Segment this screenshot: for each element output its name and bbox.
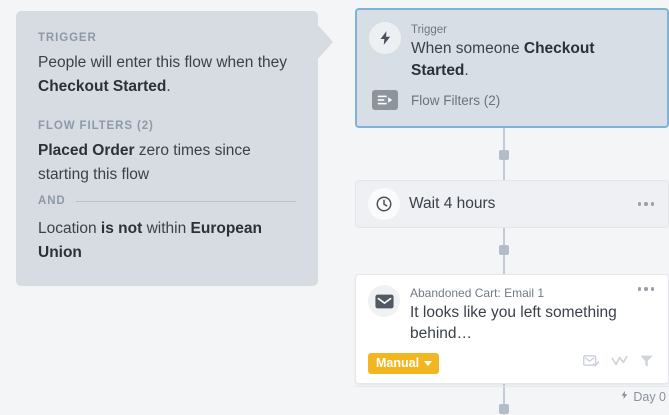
clock-icon <box>368 188 400 220</box>
flow-filters-label: Flow Filters (2) <box>411 93 500 108</box>
connector-node-1 <box>499 150 509 160</box>
manual-status-badge[interactable]: Manual <box>368 353 439 375</box>
tooltip-filter-2-bold-1: is not <box>101 220 142 237</box>
trigger-card-kicker: Trigger <box>411 23 653 37</box>
email-card-subject: It looks like you left something behind… <box>410 302 636 345</box>
lightning-bolt-icon <box>369 22 401 54</box>
tooltip-filter-2-middle: within <box>142 220 190 237</box>
tooltip-trigger-text-bold: Checkout Started <box>38 78 166 95</box>
envelope-check-icon[interactable] <box>583 354 600 373</box>
tooltip-filters-label: FLOW FILTERS (2) <box>38 120 296 132</box>
tooltip-and-label: AND <box>38 195 66 207</box>
trigger-card-title-suffix: . <box>464 62 468 79</box>
email-action-icons <box>583 354 656 373</box>
wait-card-title: Wait 4 hours <box>409 195 636 213</box>
day-marker-label: Day 0 <box>633 390 666 404</box>
trigger-card-text: Trigger When someone Checkout Started. <box>411 22 653 81</box>
tooltip-trigger-text-suffix: . <box>166 78 170 95</box>
tooltip-filter-2-prefix: Location <box>38 220 101 237</box>
trigger-card-title: When someone Checkout Started. <box>411 38 653 81</box>
tooltip-pointer-arrow <box>317 24 333 60</box>
flow-filters-row[interactable]: Flow Filters (2) <box>369 90 653 110</box>
email-card-text: Abandoned Cart: Email 1 It looks like yo… <box>410 285 636 345</box>
connector-node-2 <box>499 245 509 255</box>
lightning-bolt-icon <box>620 389 629 404</box>
kebab-menu-icon[interactable] <box>636 283 657 295</box>
tooltip-trigger-text: People will enter this flow when they Ch… <box>38 51 296 98</box>
kebab-menu-icon[interactable] <box>636 198 657 210</box>
tooltip-trigger-label: TRIGGER <box>38 32 296 44</box>
envelope-icon <box>368 285 400 317</box>
day-marker: Day 0 <box>620 389 666 404</box>
email-card-kicker: Abandoned Cart: Email 1 <box>410 286 636 301</box>
trigger-card-title-prefix: When someone <box>411 40 524 57</box>
flow-filters-icon <box>372 90 398 110</box>
tooltip-filter-1: Placed Order zero times since starting t… <box>38 139 296 186</box>
filter-funnel-icon[interactable] <box>639 354 654 373</box>
tooltip-trigger-text-prefix: People will enter this flow when they <box>38 54 287 71</box>
email-card[interactable]: Abandoned Cart: Email 1 It looks like yo… <box>355 274 669 384</box>
tooltip-filter-1-bold: Placed Order <box>38 142 135 159</box>
wait-card[interactable]: Wait 4 hours <box>355 180 669 228</box>
trigger-card[interactable]: Trigger When someone Checkout Started. F… <box>355 8 669 128</box>
flow-trigger-tooltip: TRIGGER People will enter this flow when… <box>16 11 318 286</box>
tooltip-spacer <box>38 98 296 120</box>
manual-badge-label: Manual <box>376 356 419 372</box>
trigger-card-main: Trigger When someone Checkout Started. <box>369 22 653 81</box>
footer-divider <box>355 386 669 387</box>
email-card-footer: Manual <box>368 353 656 375</box>
email-card-main: Abandoned Cart: Email 1 It looks like yo… <box>368 285 656 345</box>
tooltip-and-rule <box>76 201 296 202</box>
connector-node-3 <box>499 404 509 414</box>
caret-down-icon <box>424 361 432 366</box>
flow-column: Trigger When someone Checkout Started. F… <box>355 0 669 415</box>
tooltip-and-divider: AND <box>38 195 296 207</box>
analytics-trend-icon[interactable] <box>611 354 628 373</box>
tooltip-filter-2: Location is not within European Union <box>38 217 296 264</box>
